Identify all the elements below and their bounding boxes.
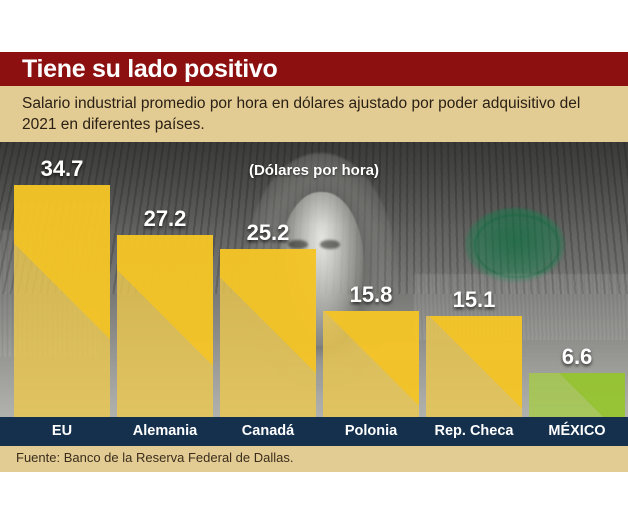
bar-column: 6.6 — [529, 142, 625, 417]
bar-value-label: 25.2 — [220, 220, 316, 246]
chart-area: (Dólares por hora) 34.727.225.215.815.16… — [0, 142, 628, 417]
subtitle-text: Salario industrial promedio por hora en … — [22, 93, 604, 135]
bar-value-label: 15.8 — [323, 282, 419, 308]
subtitle-band: Salario industrial promedio por hora en … — [0, 86, 628, 142]
bar-value-label: 34.7 — [14, 156, 110, 182]
bar-value-label: 6.6 — [529, 344, 625, 370]
bar-column: 34.7 — [14, 142, 110, 417]
bar-column: 25.2 — [220, 142, 316, 417]
bar-column: 27.2 — [117, 142, 213, 417]
bar-rep-checa — [426, 316, 522, 417]
bar-column: 15.1 — [426, 142, 522, 417]
bar-eu — [14, 185, 110, 417]
bar-polonia — [323, 311, 419, 417]
bar-chart-plot: 34.727.225.215.815.16.6 — [0, 142, 628, 417]
source-note: Fuente: Banco de la Reserva Federal de D… — [16, 450, 294, 465]
category-label-eu: EU — [14, 417, 110, 446]
bar-value-label: 27.2 — [117, 206, 213, 232]
infographic-root: Tiene su lado positivo Salario industria… — [0, 0, 628, 524]
bar-column: 15.8 — [323, 142, 419, 417]
bar-canad — [220, 249, 316, 417]
bar-m-xico — [529, 373, 625, 417]
footer-band: Fuente: Banco de la Reserva Federal de D… — [0, 446, 628, 472]
bar-alemania — [117, 235, 213, 417]
category-label-strip: EUAlemaniaCanadáPoloniaRep. ChecaMÉXICO — [0, 417, 628, 446]
category-label-m-xico: MÉXICO — [529, 417, 625, 446]
category-label-alemania: Alemania — [117, 417, 213, 446]
category-label-canad: Canadá — [220, 417, 316, 446]
category-label-rep-checa: Rep. Checa — [426, 417, 522, 446]
page-title: Tiene su lado positivo — [22, 55, 278, 84]
bar-value-label: 15.1 — [426, 287, 522, 313]
category-label-polonia: Polonia — [323, 417, 419, 446]
title-bar: Tiene su lado positivo — [0, 52, 628, 86]
